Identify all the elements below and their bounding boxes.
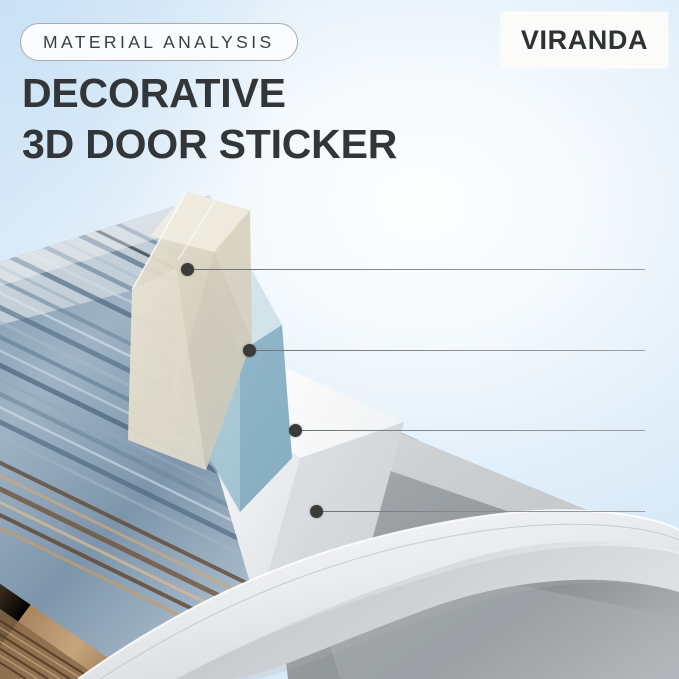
sticker-artwork xyxy=(0,140,679,679)
title-line-1: DECORATIVE xyxy=(22,68,542,119)
callout-leader-line xyxy=(187,269,645,270)
page-title: DECORATIVE 3D DOOR STICKER xyxy=(22,68,542,170)
callout-dot xyxy=(289,424,302,437)
title-line-2: 3D DOOR STICKER xyxy=(22,119,542,170)
callout-dot xyxy=(243,344,256,357)
eyebrow-badge: MATERIAL ANALYSIS xyxy=(20,23,298,61)
callout-leader-line xyxy=(295,430,645,431)
callout-dot xyxy=(181,263,194,276)
product-infographic-poster: MATERIAL ANALYSIS DECORATIVE 3D DOOR STI… xyxy=(0,0,679,679)
eyebrow-label: MATERIAL ANALYSIS xyxy=(43,32,275,53)
callout-leader-line xyxy=(249,350,645,351)
callout-leader-line xyxy=(316,511,645,512)
brand-name: VIRANDA xyxy=(521,25,648,56)
callout-dot xyxy=(310,505,323,518)
brand-logo-box: VIRANDA xyxy=(501,12,668,68)
